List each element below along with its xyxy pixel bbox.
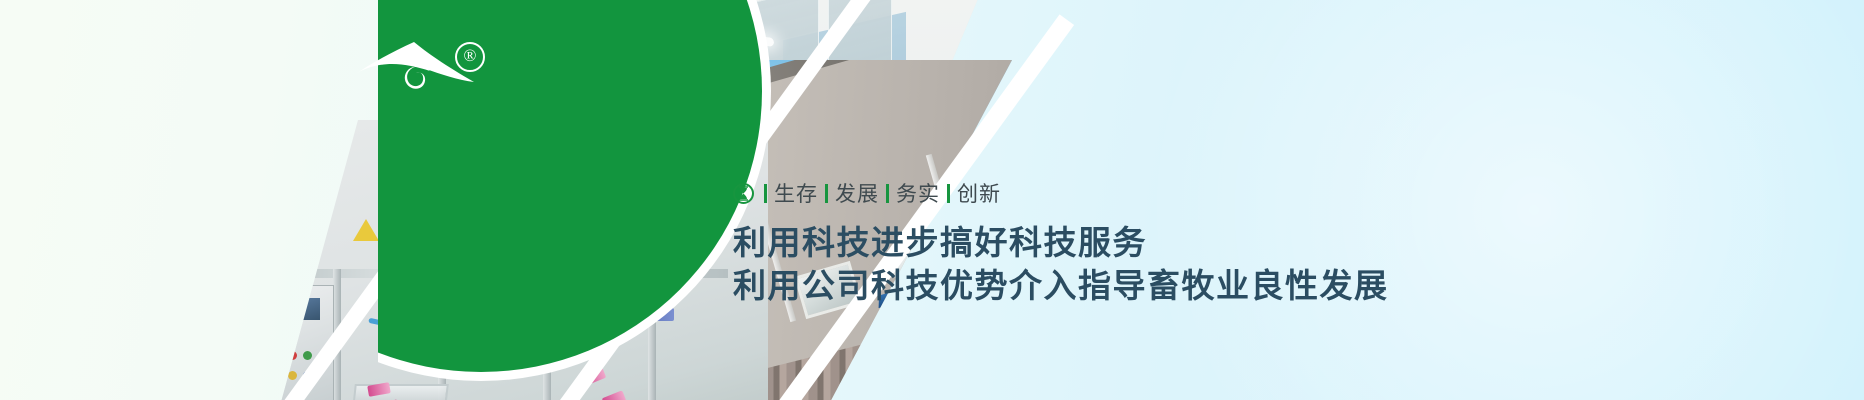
registered-trademark-icon: ® [455, 42, 485, 72]
tagline-separator [886, 184, 889, 203]
green-circle-emblem-icon [733, 183, 754, 204]
control-button [288, 371, 297, 380]
control-button [303, 351, 312, 360]
tagline-word-4: 创新 [957, 178, 1001, 208]
headline-line-2: 利用公司科技优势介入指导畜牧业良性发展 [733, 265, 1633, 308]
tagline-word-2: 发展 [835, 178, 879, 208]
warning-sign-icon [353, 219, 379, 241]
company-tagline: 生存 发展 务实 创新 [733, 178, 1633, 208]
banner-text-block: 生存 发展 务实 创新 利用科技进步搞好科技服务 利用公司科技优势介入指导畜牧业… [733, 178, 1633, 308]
promotional-banner: ® 生存 发展 务实 创新 利用科技进步搞好科技服务 利用公司科技优势介入指导畜… [0, 0, 1864, 400]
headline-line-1: 利用科技进步搞好科技服务 [733, 222, 1633, 265]
tagline-separator [764, 184, 767, 203]
tagline-separator [947, 184, 950, 203]
tagline-word-3: 务实 [896, 178, 940, 208]
control-button [288, 351, 297, 360]
tagline-separator [825, 184, 828, 203]
control-screen [286, 298, 320, 320]
tagline-word-1: 生存 [774, 178, 818, 208]
